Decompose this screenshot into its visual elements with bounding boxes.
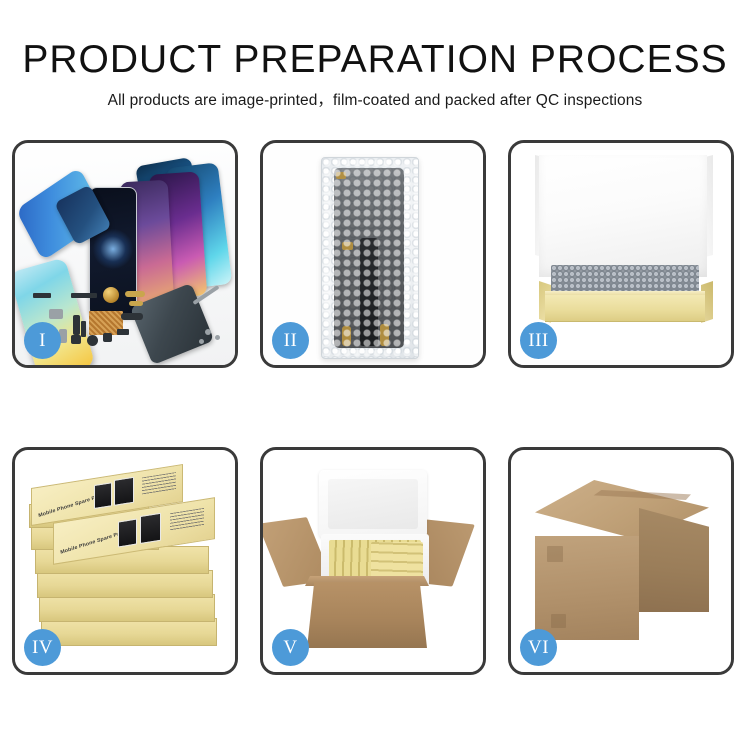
vibration-motor-icon [103, 287, 119, 303]
earpiece-speaker-part [71, 293, 97, 298]
process-step-grid: I II III [12, 140, 738, 675]
page-header: PRODUCT PREPARATION PROCESS All products… [0, 0, 750, 111]
flex-cable-part-2 [81, 321, 86, 337]
box-screen-graphic-4 [140, 513, 161, 544]
carton-front-panel [307, 582, 427, 648]
wrapped-flex-cable [360, 238, 378, 346]
screw-part [205, 329, 211, 335]
connector-tab-left [342, 326, 351, 346]
bracket-part [49, 309, 63, 319]
tape-tab-top [336, 172, 346, 179]
step-panel-4[interactable]: Mobile Phone Spare Parts Mobile Phone Sp… [12, 447, 238, 675]
step-panel-5[interactable]: V [260, 447, 486, 675]
step-panel-6[interactable]: VI [508, 447, 734, 675]
antenna-flex-part [121, 313, 143, 320]
box-screen-graphic-2 [114, 477, 134, 506]
foam-box-lid [319, 470, 427, 538]
screw-part-2 [215, 335, 220, 340]
sim-tray-part [103, 333, 112, 342]
page-title: PRODUCT PREPARATION PROCESS [0, 38, 750, 82]
box-spec-lines-2 [170, 508, 204, 531]
box-spec-lines-1 [142, 472, 176, 495]
stacked-box-5 [39, 594, 215, 622]
step-panel-1[interactable]: I [12, 140, 238, 368]
carton-handle-notch-top [547, 546, 563, 562]
step-badge-1: I [24, 322, 61, 359]
flex-connector-gold [125, 291, 145, 297]
button-flex-part [117, 329, 129, 335]
box-stack: Mobile Phone Spare Parts Mobile Phone Sp… [27, 466, 227, 662]
carton-handle-notch-bottom [551, 614, 566, 628]
stacked-box-4 [37, 570, 213, 598]
sealed-carton-side [639, 508, 709, 612]
small-chip-part [71, 335, 81, 344]
box-screen-graphic-1 [94, 482, 112, 509]
step-badge-5: V [272, 629, 309, 666]
stacked-box-6 [41, 618, 217, 646]
step-panel-3[interactable]: III [508, 140, 734, 368]
speaker-module-part [87, 335, 98, 346]
step-panel-2[interactable]: II [260, 140, 486, 368]
step-badge-2: II [272, 322, 309, 359]
flex-connector-gold-2 [129, 301, 143, 306]
yellow-box-front-panel [545, 295, 705, 322]
step-badge-6: VI [520, 629, 557, 666]
tape-tab-mid [342, 242, 353, 250]
bubble-wrap-bag [321, 157, 419, 359]
white-foam-lid [539, 155, 707, 277]
box-screen-graphic-3 [118, 519, 137, 548]
flex-cable-part [73, 315, 80, 335]
step-badge-3: III [520, 322, 557, 359]
yellow-packs-row-2 [371, 542, 423, 578]
screw-part-3 [199, 339, 204, 344]
connector-tab-right [380, 324, 389, 346]
antenna-strip-part [33, 293, 51, 298]
page-subtitle: All products are image-printed，film-coat… [0, 91, 750, 111]
step-badge-4: IV [24, 629, 61, 666]
